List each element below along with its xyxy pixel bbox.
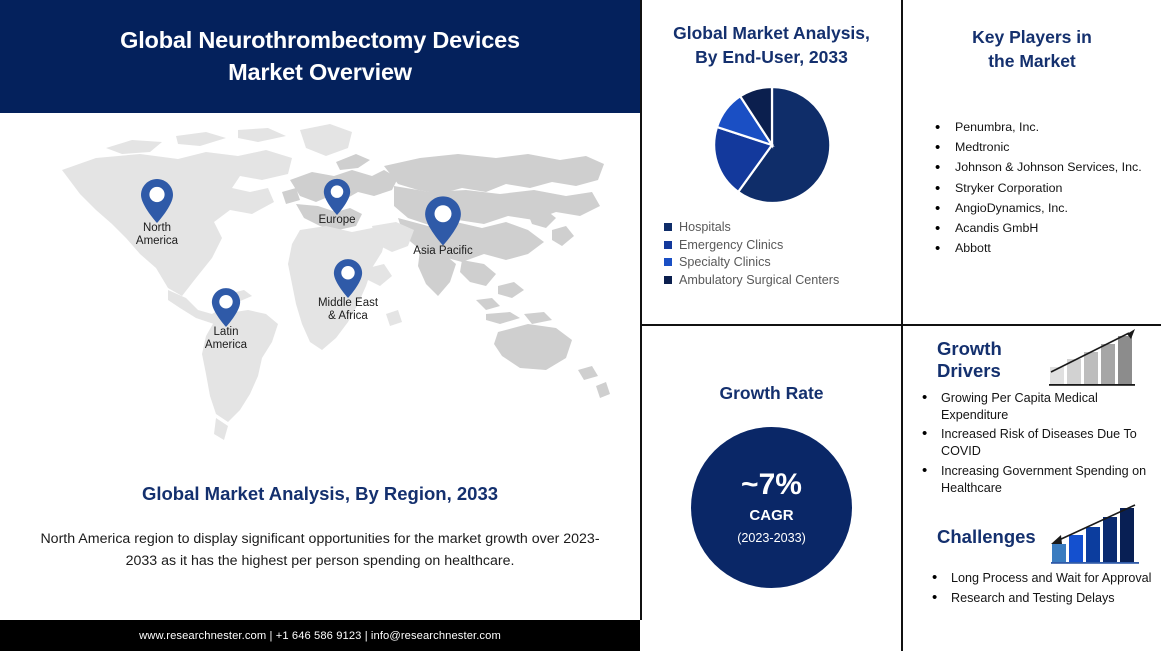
legend-swatch-icon — [664, 223, 672, 231]
list-item: Increasing Government Spending on Health… — [919, 463, 1161, 496]
map-pin-label: North America — [136, 222, 178, 248]
drivers-challenges-panel: Growth Drivers Growing Per Capita Medica… — [903, 326, 1161, 651]
list-item: Long Process and Wait for Approval — [929, 570, 1161, 587]
map-pin-icon — [424, 195, 462, 247]
legend-swatch-icon — [664, 241, 672, 249]
list-item: Johnson & Johnson Services, Inc. — [933, 157, 1161, 177]
region-analysis-title: Global Market Analysis, By Region, 2033 — [0, 483, 640, 505]
world-map-svg — [0, 118, 640, 473]
key-players-title-line1: Key Players in — [903, 26, 1161, 50]
cagr-period: (2023-2033) — [737, 531, 806, 545]
list-item: Stryker Corporation — [933, 178, 1161, 198]
list-item: Penumbra, Inc. — [933, 117, 1161, 137]
legend-item: Specialty Clinics — [664, 255, 901, 269]
end-user-panel: Global Market Analysis, By End-User, 203… — [642, 0, 901, 324]
region-analysis-description: North America region to display signific… — [26, 528, 614, 572]
header-title-line1: Global Neurothrombectomy Devices — [120, 25, 520, 57]
pin-label-line2: America — [205, 339, 247, 352]
legend-swatch-icon — [664, 258, 672, 266]
map-pin-north-america[interactable]: North America — [140, 178, 174, 224]
end-user-pie-chart — [710, 83, 834, 207]
end-user-title-line2: By End-User, 2033 — [642, 46, 901, 70]
legend-label: Specialty Clinics — [679, 255, 771, 269]
growth-drivers-header: Growth Drivers — [903, 326, 1161, 388]
legend-label: Ambulatory Surgical Centers — [679, 273, 839, 287]
growth-rate-title: Growth Rate — [642, 382, 901, 406]
pin-label-line1: Latin — [205, 326, 247, 339]
challenges-title: Challenges — [937, 526, 1057, 548]
left-panel: Global Neurothrombectomy Devices Market … — [0, 0, 640, 651]
pie-chart-svg — [710, 83, 834, 207]
list-item: Research and Testing Delays — [929, 590, 1161, 607]
map-pin-icon — [140, 178, 174, 224]
pin-label-line1: Europe — [318, 214, 355, 227]
end-user-title-line1: Global Market Analysis, — [642, 22, 901, 46]
map-pin-label: Asia Pacific — [413, 245, 472, 258]
footer-contact-text: www.researchnester.com | +1 646 586 9123… — [139, 630, 501, 642]
infographic-page: Global Neurothrombectomy Devices Market … — [0, 0, 1161, 651]
map-pin-label: Middle East & Africa — [318, 297, 378, 323]
ascending-bar-chart-down-arrow-icon — [1049, 504, 1145, 566]
map-pin-asia-pacific[interactable]: Asia Pacific — [424, 195, 462, 247]
growth-rate-panel: Growth Rate ~7% CAGR (2023-2033) — [642, 326, 901, 651]
key-players-title-line2: the Market — [903, 50, 1161, 74]
page-title: Global Neurothrombectomy Devices Market … — [80, 25, 560, 88]
growth-drivers-title: Growth Drivers — [937, 338, 1057, 382]
map-pin-middle-east-africa[interactable]: Middle East & Africa — [333, 258, 363, 299]
map-pin-europe[interactable]: Europe — [323, 178, 351, 216]
legend-swatch-icon — [664, 276, 672, 284]
map-pin-label: Europe — [318, 214, 355, 227]
cagr-label: CAGR — [749, 507, 793, 524]
list-item: Growing Per Capita Medical Expenditure — [919, 390, 1161, 423]
list-item: Medtronic — [933, 137, 1161, 157]
key-players-panel: Key Players in the Market Penumbra, Inc.… — [903, 0, 1161, 324]
pin-label-line1: Middle East — [318, 297, 378, 310]
ascending-bar-chart-up-arrow-icon — [1047, 326, 1143, 388]
pin-label-line1: North — [136, 222, 178, 235]
pin-label-line1: Asia Pacific — [413, 245, 472, 258]
legend-item: Hospitals — [664, 220, 901, 234]
legend-item: Ambulatory Surgical Centers — [664, 273, 901, 287]
challenges-list: Long Process and Wait for Approval Resea… — [929, 570, 1161, 606]
key-players-list: Penumbra, Inc. Medtronic Johnson & Johns… — [933, 117, 1161, 258]
cagr-badge: ~7% CAGR (2023-2033) — [691, 427, 852, 588]
list-item: Increased Risk of Diseases Due To COVID — [919, 426, 1161, 459]
challenges-header: Challenges — [903, 504, 1161, 566]
list-item: Acandis GmbH — [933, 218, 1161, 238]
pin-label-line2: America — [136, 235, 178, 248]
world-map: North America Europe Asi — [0, 118, 640, 473]
legend-label: Emergency Clinics — [679, 238, 783, 252]
header-band: Global Neurothrombectomy Devices Market … — [0, 0, 640, 113]
list-item: AngioDynamics, Inc. — [933, 198, 1161, 218]
cagr-value: ~7% — [741, 469, 802, 501]
legend-label: Hospitals — [679, 220, 731, 234]
footer-bar: www.researchnester.com | +1 646 586 9123… — [0, 620, 640, 651]
legend-item: Emergency Clinics — [664, 238, 901, 252]
map-pin-icon — [323, 178, 351, 216]
growth-drivers-title-line2: Drivers — [937, 360, 1057, 382]
end-user-title: Global Market Analysis, By End-User, 203… — [642, 22, 901, 69]
key-players-title: Key Players in the Market — [903, 26, 1161, 73]
header-title-line2: Market Overview — [120, 57, 520, 89]
growth-drivers-title-line1: Growth — [937, 338, 1057, 360]
list-item: Abbott — [933, 238, 1161, 258]
map-pin-latin-america[interactable]: Latin America — [211, 287, 241, 328]
map-pin-label: Latin America — [205, 326, 247, 352]
map-pin-icon — [211, 287, 241, 328]
map-pin-icon — [333, 258, 363, 299]
growth-drivers-list: Growing Per Capita Medical Expenditure I… — [919, 390, 1161, 496]
pin-label-line2: & Africa — [318, 310, 378, 323]
pie-chart-legend: Hospitals Emergency Clinics Specialty Cl… — [664, 220, 901, 287]
